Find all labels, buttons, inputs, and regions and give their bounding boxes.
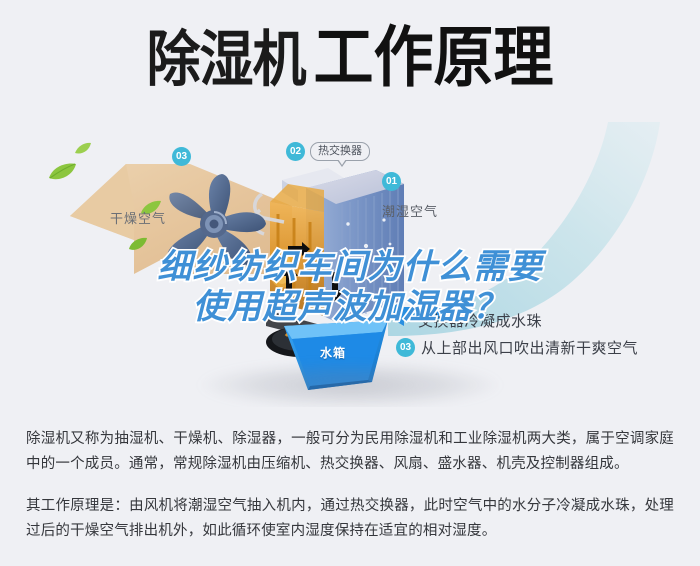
- page-header: 除湿机 工作原理: [0, 0, 700, 112]
- leaf-icon: [74, 142, 92, 156]
- leaf-icon: [47, 162, 77, 182]
- floor-shadow: [200, 362, 500, 407]
- page-title: 除湿机 工作原理: [147, 13, 554, 100]
- water-tank-label: 水箱: [320, 344, 346, 361]
- badge-01: 01: [382, 172, 401, 191]
- callout-03-bottom-outlet: 03 从上部出风口吹出清新干爽空气: [396, 337, 638, 358]
- page-title-part1: 除湿机: [147, 9, 306, 97]
- callout-02-label: 热交换器: [310, 142, 370, 161]
- body-paragraph-1: 除湿机又称为抽湿机、干燥机、除湿器，一般可分为民用除湿机和工业除湿机两大类，属于…: [26, 427, 674, 477]
- body-text-block: 除湿机又称为抽湿机、干燥机、除湿器，一般可分为民用除湿机和工业除湿机两大类，属于…: [0, 412, 700, 558]
- callout-03-bottom-label: 从上部出风口吹出清新干爽空气: [421, 337, 638, 358]
- fan-icon: [152, 172, 277, 282]
- body-paragraph-2: 其工作原理是：由风机将潮湿空气抽入机内，通过热交换器，此时空气中的水分子冷凝成水…: [26, 494, 674, 544]
- page-root: 除湿机 工作原理: [0, 0, 700, 566]
- leaf-icon: [128, 237, 148, 252]
- page-title-part2: 工作原理: [314, 4, 554, 100]
- badge-02: 02: [286, 142, 305, 161]
- callout-03-label: 干燥空气: [110, 208, 166, 227]
- occluded-condensation-line: 交换器冷凝成水珠: [418, 310, 542, 331]
- callout-01-humid-air: 01 潮湿空气: [382, 172, 438, 220]
- illustration-panel: 水箱 02 热交换器 01 潮湿空气 03 干燥空气 交换器冷凝成水珠 03 从…: [0, 112, 700, 407]
- badge-03-bottom: 03: [396, 338, 415, 357]
- callout-01-label: 潮湿空气: [382, 201, 438, 220]
- callout-02-heat-exchanger: 02 热交换器: [286, 142, 370, 161]
- callout-03-dry-air: 03: [172, 147, 191, 166]
- badge-03: 03: [172, 147, 191, 166]
